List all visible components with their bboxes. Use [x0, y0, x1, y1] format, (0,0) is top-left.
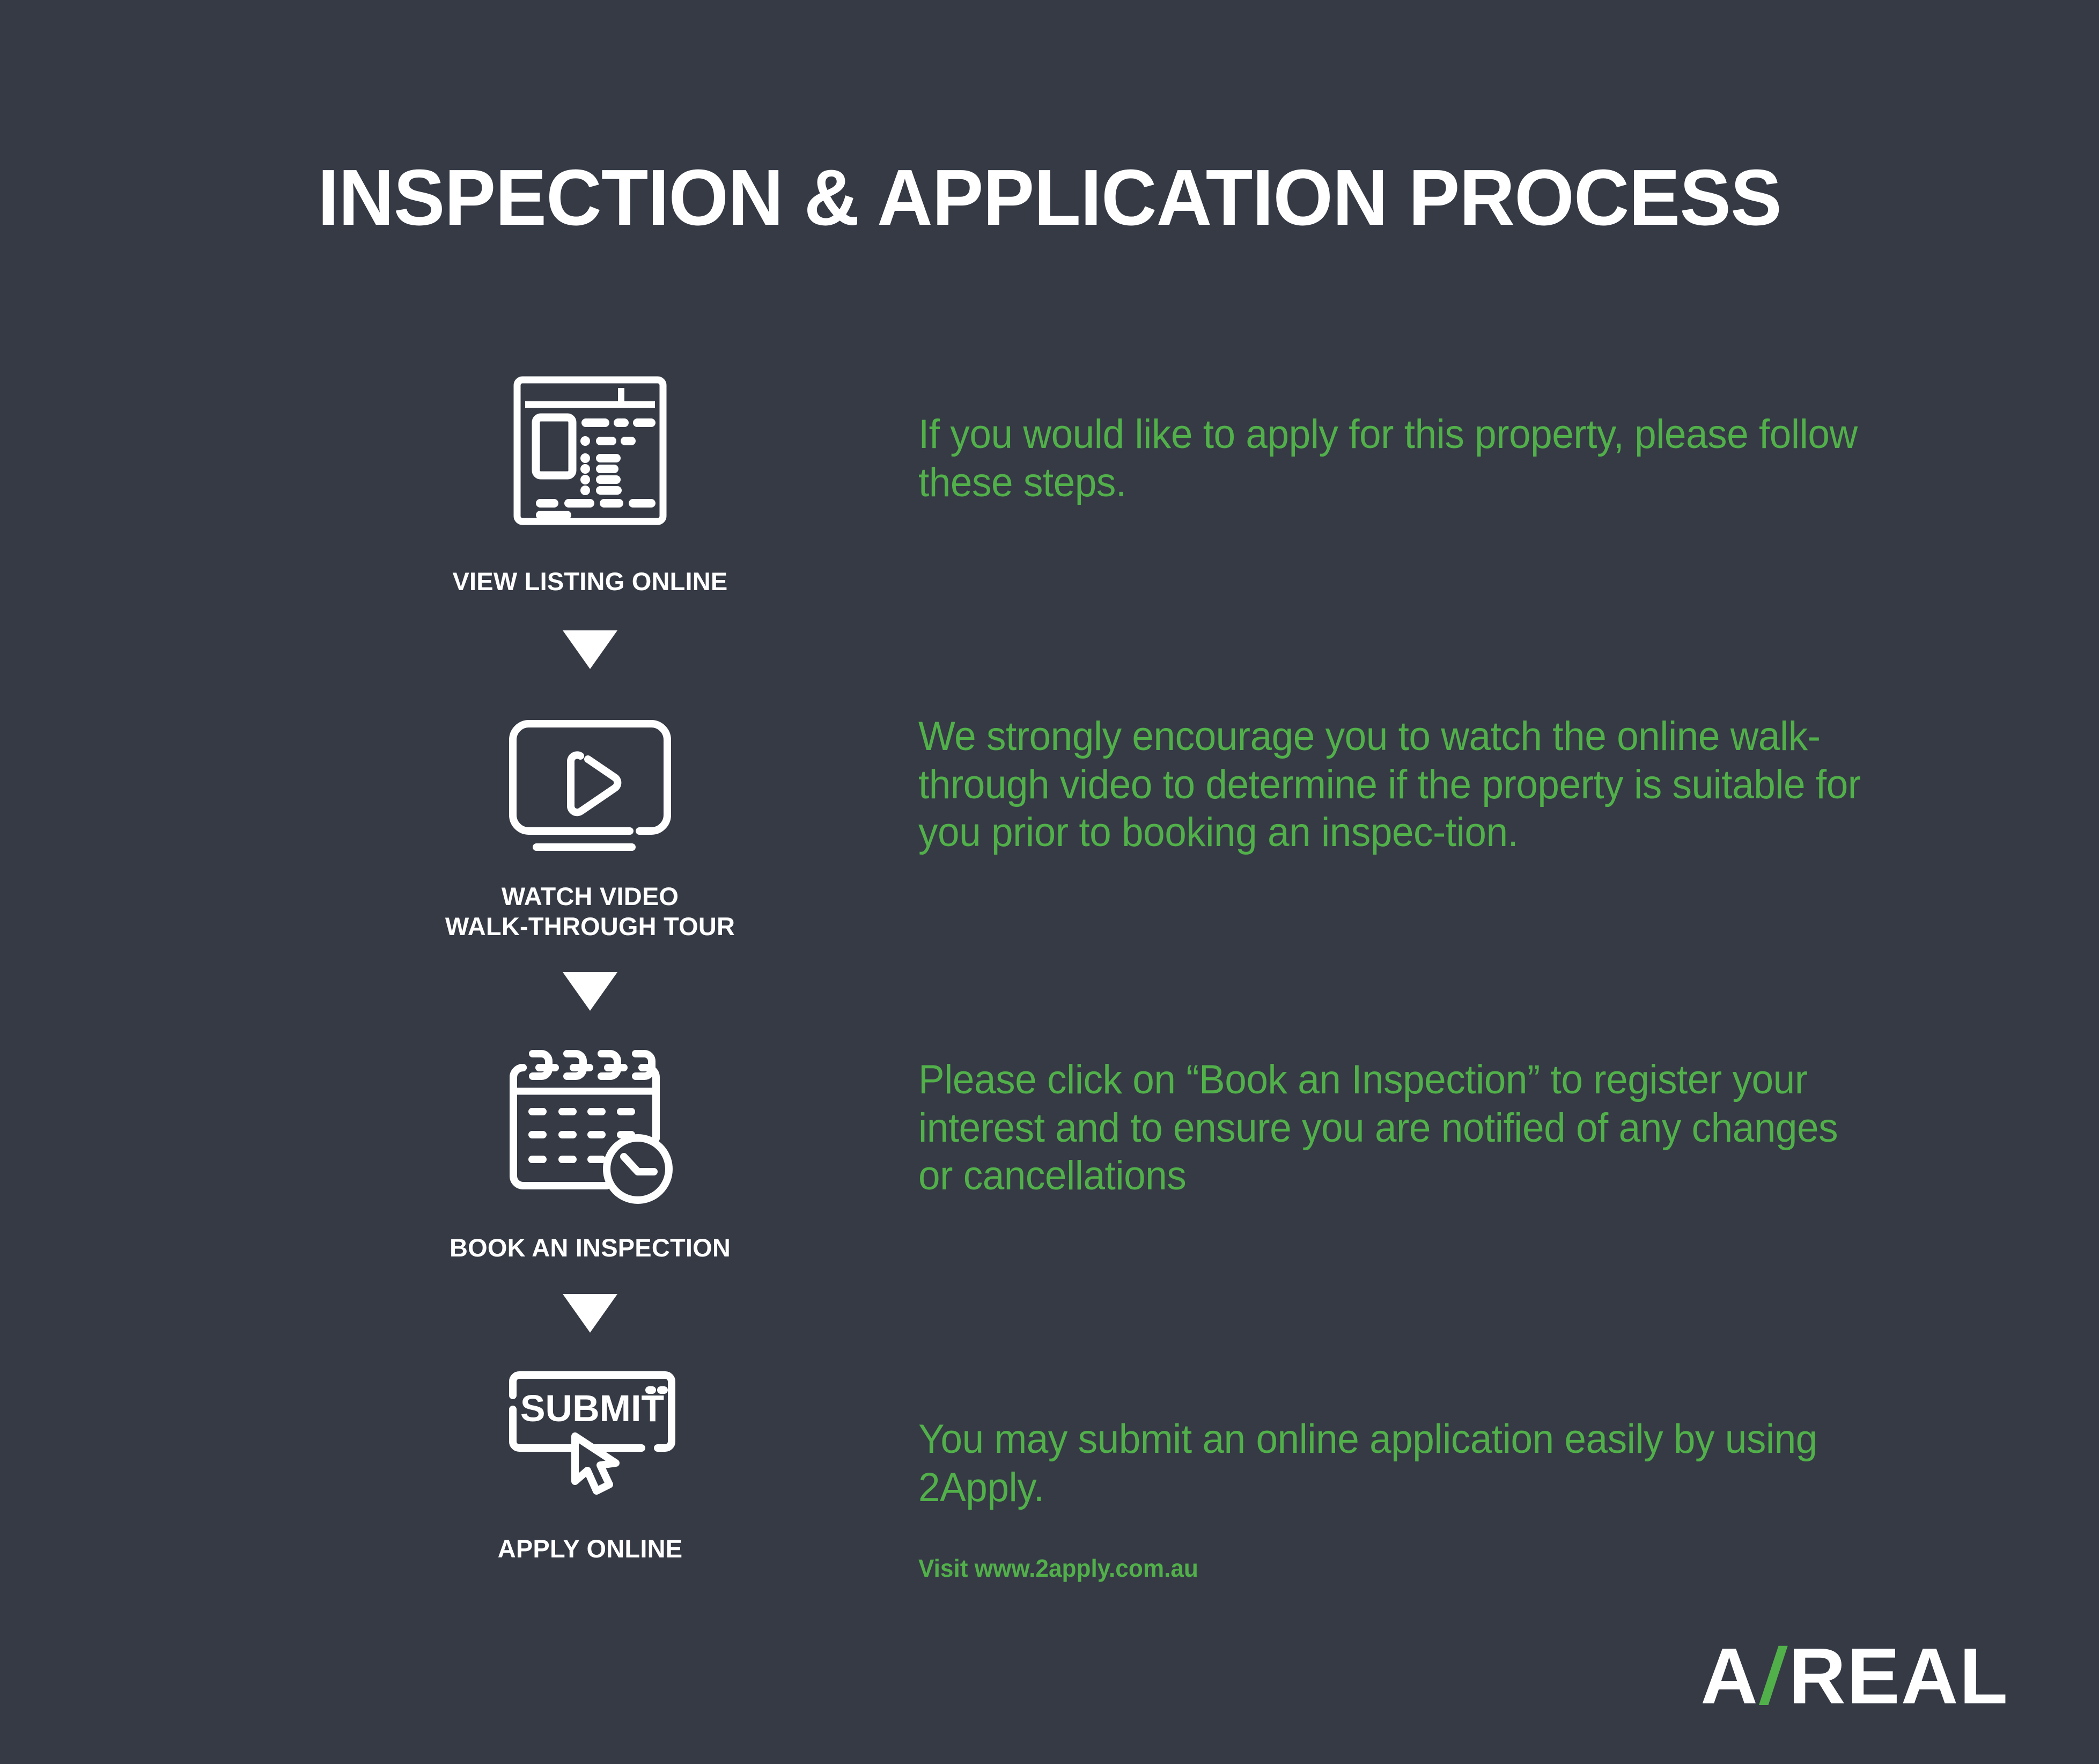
brand-logo: A / REAL — [1700, 1636, 2009, 1717]
chevron-down-icon — [563, 972, 617, 1011]
chevron-down-icon — [563, 630, 617, 669]
web-listing-icon — [513, 376, 667, 526]
step-3-icon-wrap — [343, 1033, 837, 1210]
flow-arrow-3 — [343, 1294, 837, 1333]
flow-arrow-2 — [343, 972, 837, 1011]
video-play-screen-icon — [499, 712, 681, 856]
calendar-clock-icon — [502, 1044, 679, 1210]
flow-arrow-1 — [343, 630, 837, 669]
logo-word-real: REAL — [1788, 1637, 2009, 1716]
step-4-icon-wrap: SUBMIT — [343, 1361, 837, 1508]
copy-paragraph-3: Please click on “Book an Inspection” to … — [918, 1056, 1866, 1200]
step-apply-online: SUBMIT APPLY ONLINE — [343, 1361, 837, 1563]
step-2-icon-wrap — [343, 700, 837, 856]
logo-slash-icon: / — [1757, 1637, 1791, 1716]
infographic-root: INSPECTION & APPLICATION PROCESS — [0, 0, 2099, 1764]
step-2-label: WATCH VIDEO WALK-THROUGH TOUR — [343, 881, 837, 941]
step-book-inspection: BOOK AN INSPECTION — [343, 1033, 837, 1262]
step-watch-video: WATCH VIDEO WALK-THROUGH TOUR — [343, 700, 837, 941]
step-2-label-line1: WATCH VIDEO — [343, 881, 837, 911]
step-2-label-line2: WALK-THROUGH TOUR — [343, 912, 837, 941]
step-1-icon-wrap — [343, 365, 837, 526]
step-4-label: APPLY ONLINE — [343, 1534, 837, 1563]
logo-letter-a: A — [1700, 1637, 1759, 1716]
step-view-listing: VIEW LISTING ONLINE — [343, 365, 837, 596]
visit-url-text[interactable]: Visit www.2apply.com.au — [918, 1554, 1198, 1583]
copy-paragraph-2: We strongly encourage you to watch the o… — [918, 712, 1866, 857]
step-1-label: VIEW LISTING ONLINE — [343, 567, 837, 596]
step-3-label: BOOK AN INSPECTION — [343, 1233, 837, 1262]
copy-paragraph-4: You may submit an online application eas… — [918, 1415, 1866, 1511]
copy-paragraph-1: If you would like to apply for this prop… — [918, 410, 1866, 506]
submit-button-cursor-icon: SUBMIT — [494, 1368, 687, 1508]
page-title: INSPECTION & APPLICATION PROCESS — [32, 158, 2068, 238]
step-flow-column: VIEW LISTING ONLINE WATCH VIDEO — [343, 365, 837, 1563]
submit-icon-text: SUBMIT — [520, 1387, 664, 1429]
chevron-down-icon — [563, 1294, 617, 1333]
